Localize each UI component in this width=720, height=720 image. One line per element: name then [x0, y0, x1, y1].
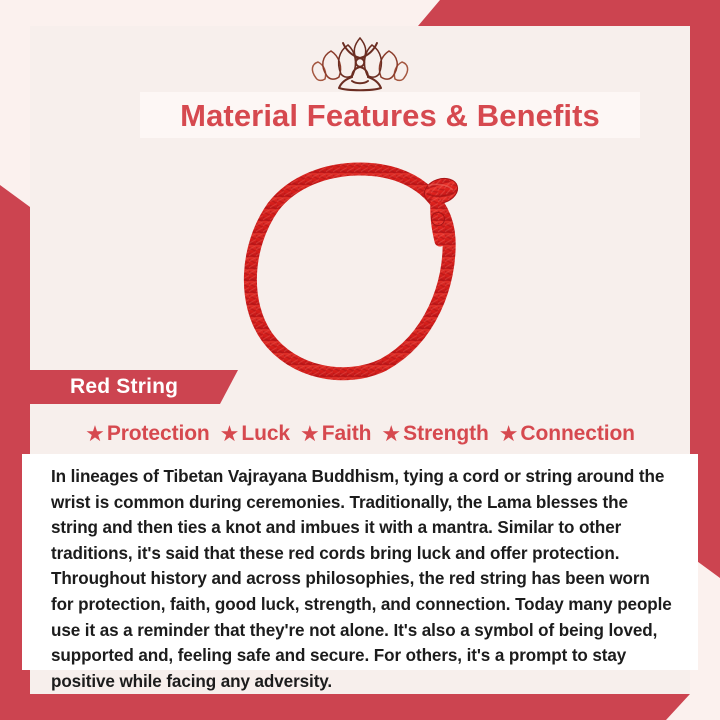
infographic-page: BUDDHA STONES Material Features & Benefi…: [0, 0, 720, 720]
content-canvas: BUDDHA STONES Material Features & Benefi…: [30, 26, 690, 694]
product-image-area: [30, 150, 690, 394]
product-label: Red String: [70, 375, 178, 399]
feature-item-protection: ★ Protection: [85, 422, 210, 446]
feature-label: Faith: [322, 422, 372, 446]
feature-item-connection: ★ Connection: [491, 422, 635, 446]
star-icon: ★: [85, 423, 105, 445]
feature-label: Connection: [520, 422, 635, 446]
star-icon: ★: [300, 423, 320, 445]
frame-band-bottom: [0, 694, 690, 720]
red-string-bracelet-image: [235, 161, 485, 383]
feature-item-faith: ★ Faith: [292, 422, 371, 446]
feature-label: Protection: [107, 422, 210, 446]
star-icon: ★: [381, 423, 401, 445]
feature-item-strength: ★ Strength: [373, 422, 488, 446]
star-icon: ★: [220, 423, 240, 445]
product-label-banner: Red String: [30, 370, 238, 404]
feature-item-luck: ★ Luck: [212, 422, 290, 446]
star-icon: ★: [499, 423, 519, 445]
title-banner: Material Features & Benefits: [140, 92, 640, 138]
feature-label: Luck: [241, 422, 290, 446]
page-title: Material Features & Benefits: [180, 100, 600, 131]
feature-label: Strength: [403, 422, 489, 446]
description-panel: In lineages of Tibetan Vajrayana Buddhis…: [22, 454, 698, 670]
lotus-meditation-icon: [308, 34, 412, 92]
description-text: In lineages of Tibetan Vajrayana Buddhis…: [51, 464, 676, 694]
feature-list: ★ Protection ★ Luck ★ Faith ★ Strength ★…: [30, 418, 690, 450]
frame-band-top: [418, 0, 720, 26]
